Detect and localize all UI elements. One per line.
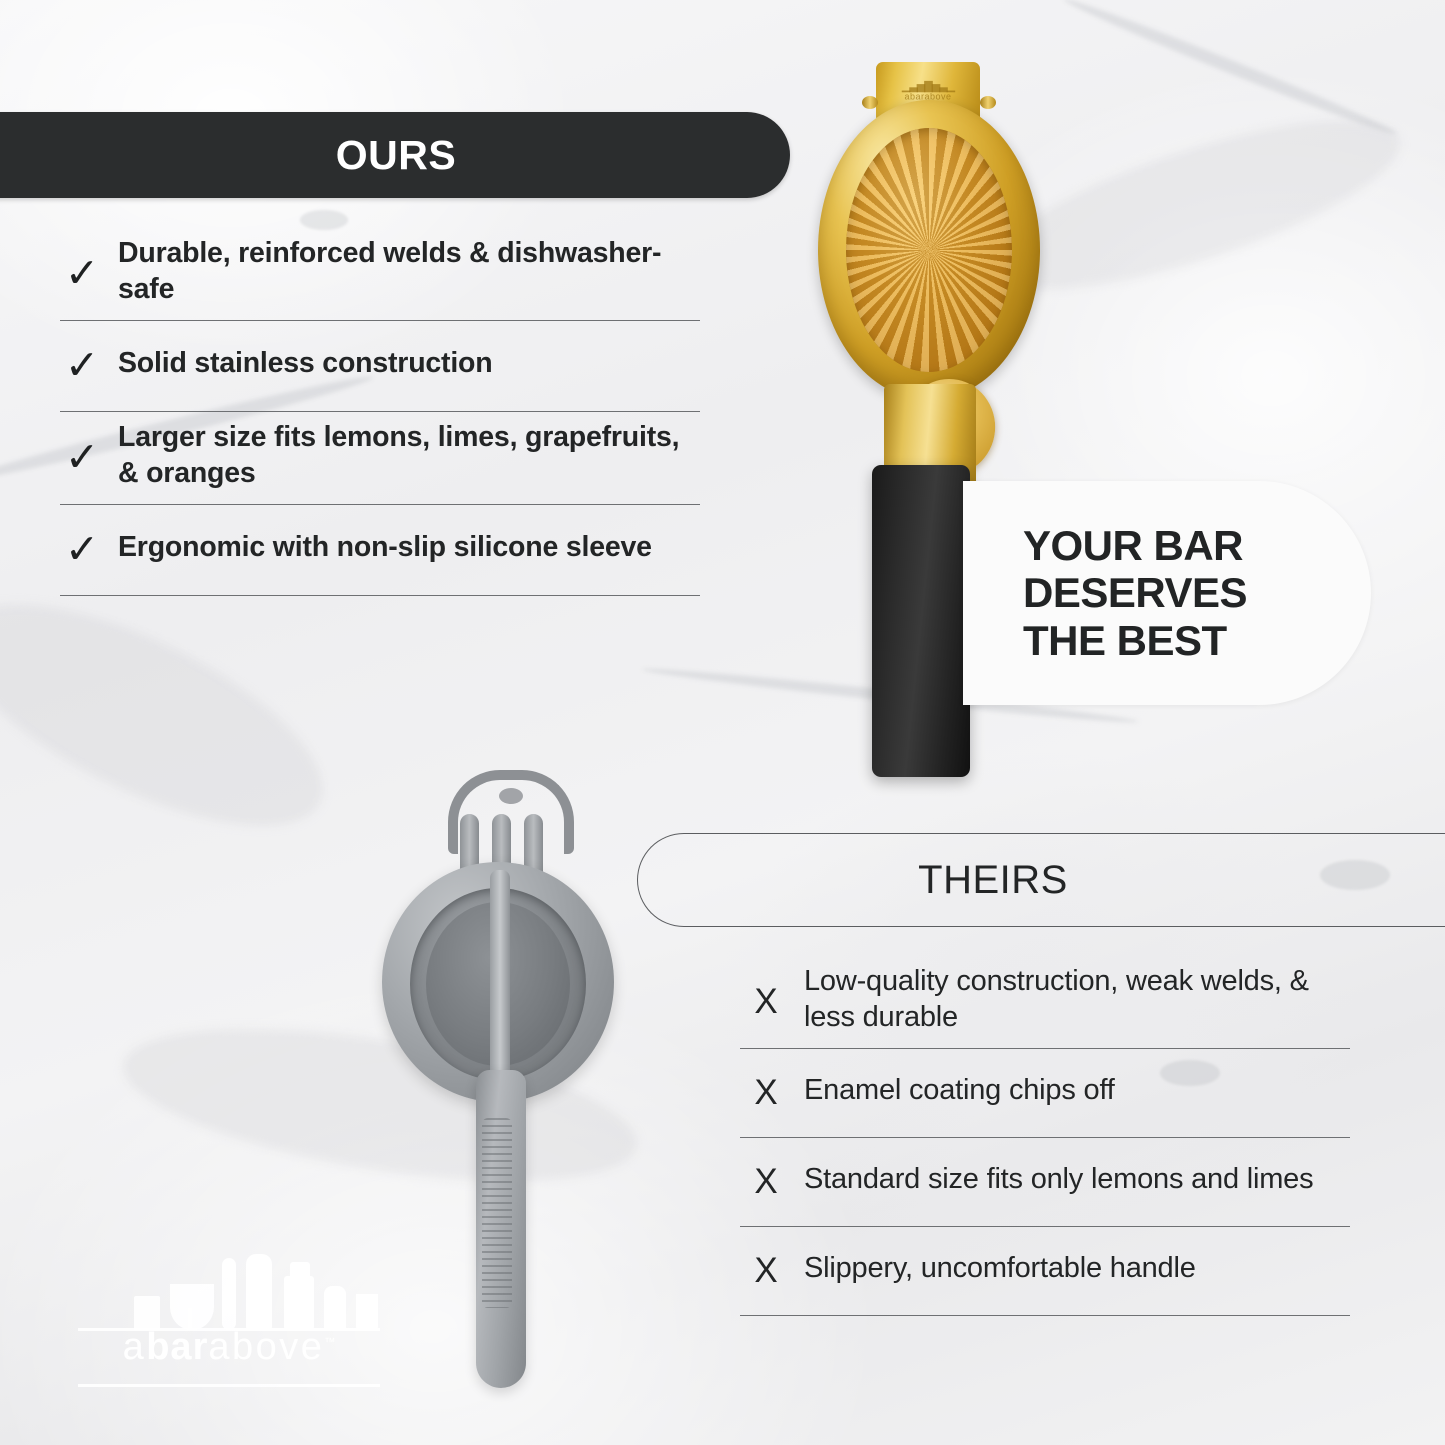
ours-header-label: OURS [314,132,456,179]
theirs-header-label: THEIRS [918,858,1188,903]
infographic-canvas: OURS ✓ Durable, reinforced welds & dishw… [0,0,1445,1445]
callout-pill: YOUR BAR DESERVES THE BEST [963,481,1371,705]
callout-line-3: THE BEST [1023,617,1247,664]
list-item-label: Ergonomic with non-slip silicone sleeve [118,530,652,566]
list-item-label: Standard size fits only lemons and limes [804,1161,1313,1197]
ours-header-pill: OURS [0,112,790,198]
list-item-label: Low-quality construction, weak welds, & … [804,963,1350,1036]
list-item-label: Slippery, uncomfortable handle [804,1250,1196,1286]
list-item-label: Durable, reinforced welds & dishwasher-s… [118,236,700,308]
brand-logo: abarabove™ [78,1256,388,1388]
list-item: ✓ Durable, reinforced welds & dishwasher… [60,228,700,321]
bottle-icon [246,1254,272,1330]
hinge-pin-right [980,96,996,109]
competitor-center-bar [490,870,510,1102]
marble-speck [300,210,348,230]
check-icon: ✓ [60,437,104,478]
callout-line-1: YOUR BAR [1023,522,1247,569]
trademark-icon: ™ [324,1336,335,1348]
competitor-handle-ridges [482,1118,512,1308]
coupe-glass-icon [170,1284,214,1330]
check-icon: ✓ [60,345,104,386]
x-mark-icon: X [740,984,792,1019]
check-icon: ✓ [60,253,104,294]
competitor-squeezer-product [382,770,622,1410]
logo-wordmark: abarabove™ [78,1328,380,1366]
theirs-header-pill: THEIRS [637,833,1445,927]
theirs-drawback-list: X Low-quality construction, weak welds, … [740,955,1350,1316]
x-mark-icon: X [740,1253,792,1288]
rocks-glass-icon [134,1296,160,1330]
squeezer-bowl-inner [846,128,1012,372]
logo-word-bar: bar [146,1326,208,1368]
x-mark-icon: X [740,1164,792,1199]
logo-word-above: above [208,1326,324,1368]
hinge-pin-left [862,96,878,109]
logo-rule-bottom [78,1384,380,1387]
competitor-handle [476,1070,526,1388]
list-item-label: Enamel coating chips off [804,1072,1115,1108]
shaker-tin-icon [284,1276,314,1330]
jigger-icon [356,1294,378,1330]
ours-feature-list: ✓ Durable, reinforced welds & dishwasher… [60,228,700,596]
competitor-hinge-stamp [499,788,523,804]
list-item: X Enamel coating chips off [740,1049,1350,1138]
silicone-handle-sleeve [872,465,970,777]
x-mark-icon: X [740,1075,792,1110]
callout-line-2: DESERVES [1023,569,1247,616]
list-item-label: Larger size fits lemons, limes, grapefru… [118,420,700,492]
callout-text: YOUR BAR DESERVES THE BEST [963,522,1247,663]
list-item: X Standard size fits only lemons and lim… [740,1138,1350,1227]
shaker-cap-icon [290,1262,310,1284]
list-item-label: Solid stainless construction [118,346,492,382]
list-item: X Low-quality construction, weak welds, … [740,955,1350,1049]
list-item: ✓ Larger size fits lemons, limes, grapef… [60,412,700,505]
bar-spoon-icon [222,1258,236,1330]
list-item: X Slippery, uncomfortable handle [740,1227,1350,1316]
list-item: ✓ Solid stainless construction [60,321,700,412]
list-item: ✓ Ergonomic with non-slip silicone sleev… [60,505,700,596]
small-bottle-icon [324,1286,346,1330]
engraved-brand-logo: ▁▃▅▇▅▃▁ abarabove [902,83,954,102]
bottle-silhouette-icon: ▁▃▅▇▅▃▁ [902,83,954,92]
squeezer-ribs [846,128,1012,372]
logo-word-a: a [123,1326,147,1368]
check-icon: ✓ [60,529,104,570]
